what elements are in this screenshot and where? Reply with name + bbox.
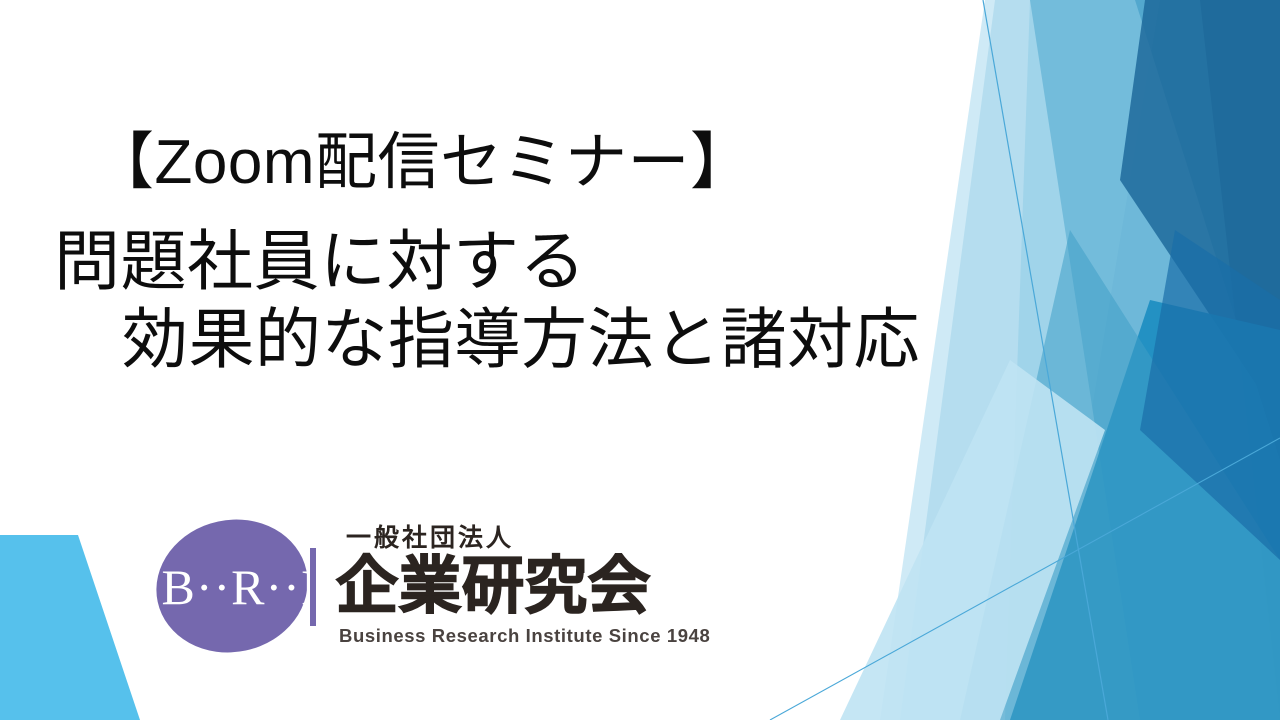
decor-hairline-diagonal — [770, 438, 1280, 720]
decor-triangle-upper-dark — [1120, 0, 1280, 420]
slide-canvas: 【Zoom配信セミナー】 問題社員に対する 効果的な指導方法と諸対応 B··R·… — [0, 0, 1280, 720]
subtitle-line-2: 効果的な指導方法と諸対応 — [0, 301, 1040, 379]
org-type-label: 一般社団法人 — [346, 526, 710, 551]
title-block: 【Zoom配信セミナー】 問題社員に対する 効果的な指導方法と諸対応 — [0, 128, 1040, 379]
bri-logo-mark: B··R··I — [152, 512, 332, 660]
subtitle-line-1: 問題社員に対する — [0, 223, 1040, 301]
bri-initials-text: B··R··I — [162, 559, 319, 615]
decor-triangle-light — [1005, 0, 1280, 720]
subtitle-block: 問題社員に対する 効果的な指導方法と諸対応 — [0, 223, 1040, 379]
bri-accent-bar — [310, 548, 316, 626]
seminar-format-heading: 【Zoom配信セミナー】 — [0, 128, 1040, 197]
organization-logo: B··R··I 一般社団法人 企業研究会 Business Research I… — [152, 512, 710, 660]
org-name-label: 企業研究会 — [336, 556, 710, 618]
logo-text-block: 一般社団法人 企業研究会 Business Research Institute… — [336, 526, 710, 646]
decor-facet-pale-lower — [840, 360, 1105, 720]
org-tagline-label: Business Research Institute Since 1948 — [339, 627, 710, 646]
decor-triangle-lower — [1010, 300, 1280, 720]
decor-facet-deep — [1140, 230, 1280, 560]
bri-ellipse-icon: B··R··I — [152, 512, 332, 660]
decor-corner-wedge — [0, 535, 140, 720]
decor-panel-dark — [1040, 0, 1280, 720]
